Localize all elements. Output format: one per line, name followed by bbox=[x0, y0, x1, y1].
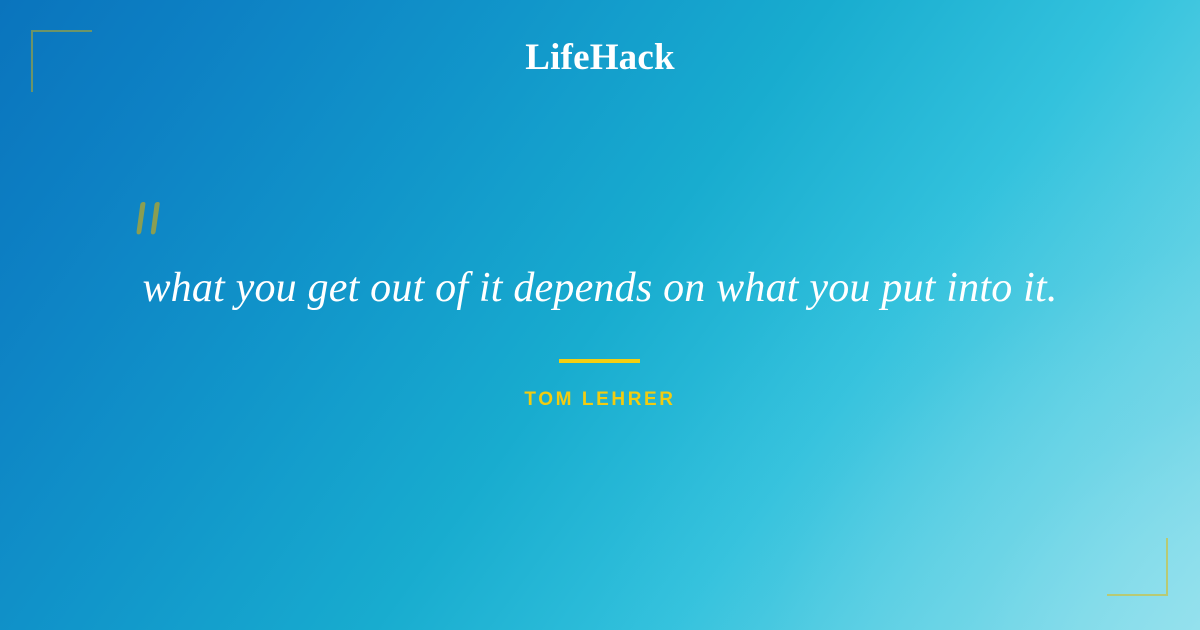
bottom-right-corner-bracket-icon bbox=[1107, 538, 1168, 596]
quote-author: TOM LEHRER bbox=[0, 389, 1200, 411]
quote-block: what you get out of it depends on what y… bbox=[0, 0, 1200, 630]
quote-divider bbox=[559, 359, 640, 363]
quote-text: what you get out of it depends on what y… bbox=[60, 263, 1140, 314]
quote-card: LifeHack what you get out of it depends … bbox=[0, 0, 1200, 630]
open-quote-icon bbox=[131, 200, 175, 240]
